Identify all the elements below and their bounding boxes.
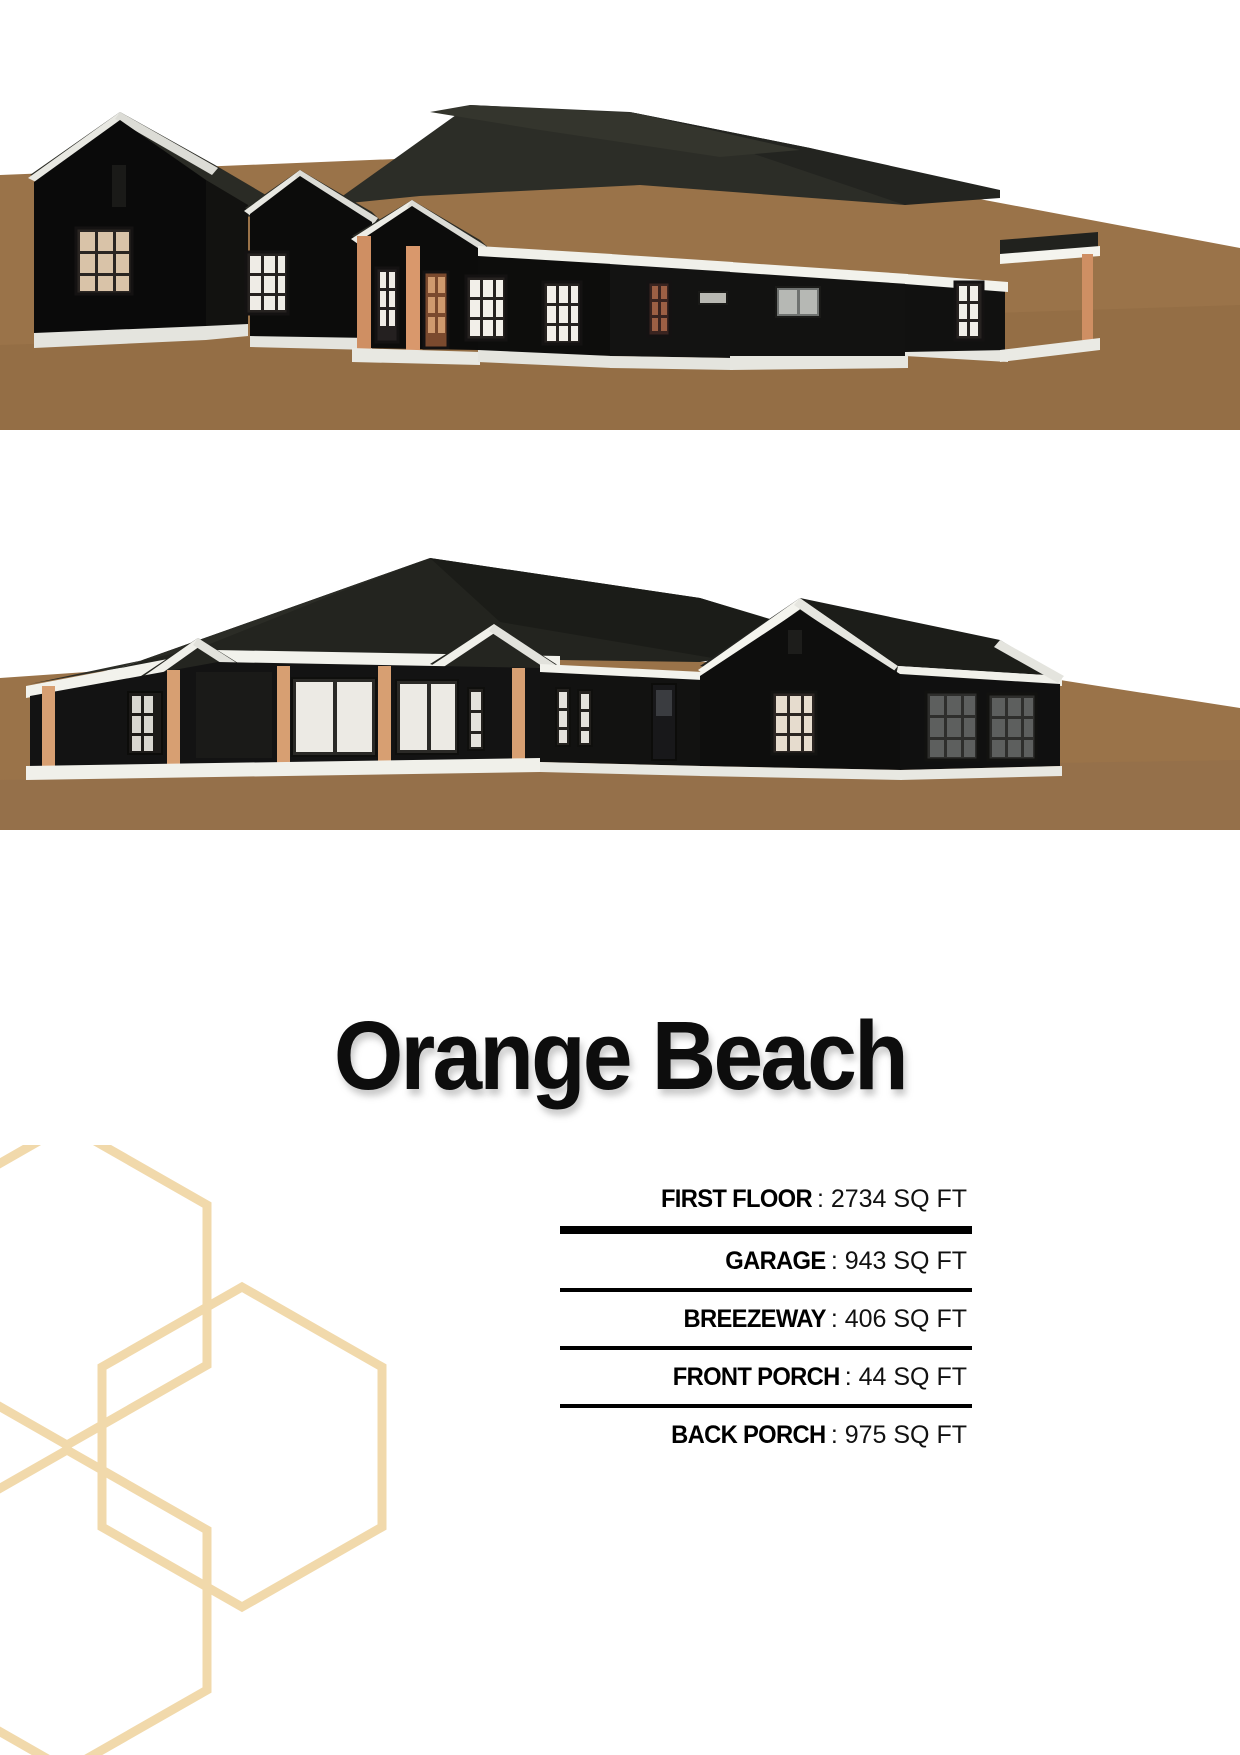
rear-window-gable-c-panes [776, 696, 812, 751]
rear-door-glass [656, 690, 672, 716]
rear-window-narrow-b-panes [559, 692, 567, 743]
window-left-gable-panes [80, 232, 129, 291]
spec-row-first-floor: FIRST FLOOR: 2734 SQ FT [560, 1172, 972, 1230]
hexagon-decoration [0, 1145, 460, 1755]
spec-inner: FIRST FLOOR: 2734 SQ FT [653, 1185, 972, 1214]
hexagon-2 [102, 1287, 382, 1607]
spec-inner: GARAGE: 943 SQ FT [720, 1247, 972, 1276]
carport-column [1082, 254, 1093, 340]
spec-label: BREEZEWAY [684, 1305, 826, 1334]
foundation-right-recess [730, 356, 908, 370]
spec-row-front-porch: FRONT PORCH: 44 SQ FT [560, 1346, 972, 1404]
title-block: Orange Beach [0, 975, 1240, 1105]
spec-value: : 2734 SQ FT [812, 1185, 967, 1214]
spec-row-back-porch: BACK PORCH: 975 SQ FT [560, 1404, 972, 1462]
porch-column-left [357, 236, 371, 352]
spec-label: GARAGE [726, 1247, 826, 1276]
foundation-right-main [610, 356, 733, 370]
vent-panel [699, 292, 727, 304]
column-1 [42, 686, 55, 774]
spec-label: BACK PORCH [671, 1421, 825, 1450]
garage-door-left-panes [930, 696, 975, 757]
front-elevation-render [0, 0, 1240, 430]
spec-inner: FRONT PORCH: 44 SQ FT [664, 1363, 972, 1392]
spec-row-breezeway: BREEZEWAY: 406 SQ FT [560, 1288, 972, 1346]
window-front-a-panes [470, 280, 503, 336]
rear-window-narrow-a-panes [471, 692, 481, 747]
window-second-panes [250, 256, 285, 310]
porch-column-right [406, 246, 420, 354]
plan-sheet-page: Orange Beach FIRST FLOOR: 2734 SQ FT GAR… [0, 0, 1240, 1755]
spec-value: : 943 SQ FT [826, 1247, 967, 1276]
wall-left-return [206, 180, 248, 332]
page-title: Orange Beach [334, 975, 906, 1104]
spec-row-garage: GARAGE: 943 SQ FT [560, 1230, 972, 1288]
spec-value: : 975 SQ FT [826, 1421, 967, 1450]
hexagon-cluster-svg [0, 1145, 460, 1755]
spec-value: : 44 SQ FT [840, 1363, 967, 1392]
column-5 [512, 668, 525, 764]
front-elevation-svg [0, 0, 1240, 430]
spec-value: : 406 SQ FT [826, 1305, 967, 1334]
spec-label: FRONT PORCH [673, 1363, 840, 1392]
gable-c-vent [788, 630, 802, 654]
rear-wall-dark-panel [196, 672, 272, 758]
rear-elevation-svg [0, 480, 1240, 830]
rear-elevation-render [0, 480, 1240, 830]
spec-inner: BACK PORCH: 975 SQ FT [663, 1421, 972, 1450]
spec-label: FIRST FLOOR [661, 1185, 812, 1214]
specifications-table: FIRST FLOOR: 2734 SQ FT GARAGE: 943 SQ F… [560, 1172, 972, 1462]
garage-door-right-panes [992, 698, 1033, 757]
column-4 [378, 666, 391, 764]
spec-inner: BREEZEWAY: 406 SQ FT [676, 1305, 972, 1334]
window-front-b-panes [547, 286, 578, 341]
chimney-left [112, 165, 126, 207]
column-2 [167, 670, 180, 766]
rear-window-narrow-c-panes [581, 694, 589, 743]
column-3 [277, 666, 290, 764]
